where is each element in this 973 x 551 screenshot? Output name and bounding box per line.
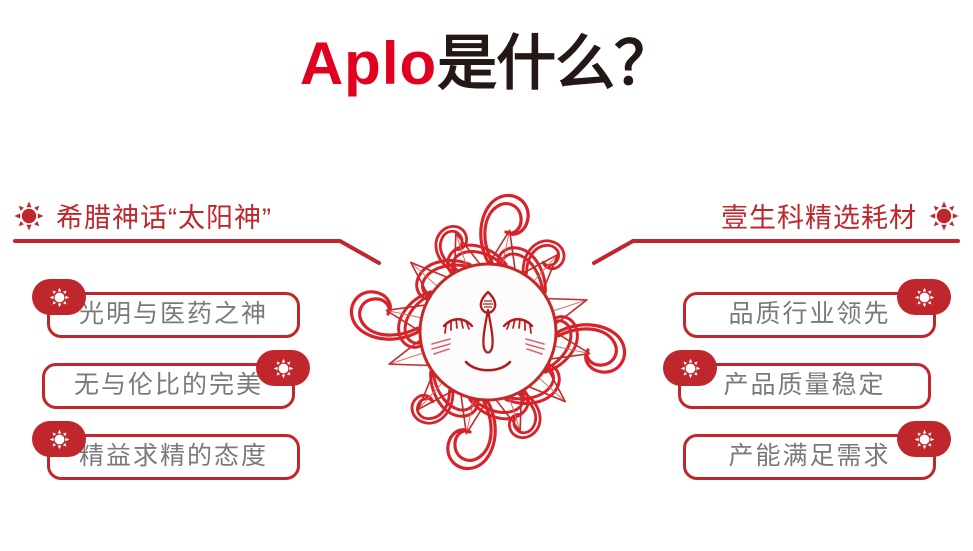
section-heading-right-label: 壹生科精选耗材: [721, 196, 917, 235]
sun-badge: [256, 350, 310, 386]
slide-canvas: Aplo是什么？ 希腊神话“太阳神”: [0, 0, 973, 551]
sun-badge: [663, 350, 717, 386]
list-item[interactable]: 品质行业领先: [683, 292, 936, 338]
list-item[interactable]: 光明与医药之神: [47, 292, 300, 338]
sun-badge: [897, 421, 951, 457]
list-item-label: 精益求精的态度: [79, 444, 268, 471]
section-heading-left-label: 希腊神话“太阳神”: [56, 196, 272, 235]
list-item-label: 品质行业领先: [728, 302, 890, 329]
list-item-label: 光明与医药之神: [79, 302, 268, 329]
brand-name: Aplo: [300, 30, 437, 97]
title-question: 是什么？: [437, 30, 673, 97]
list-item[interactable]: 产品质量稳定: [678, 363, 931, 409]
section-heading-right: 壹生科精选耗材: [721, 196, 959, 235]
sun-icon: [929, 201, 959, 231]
list-item-label: 产品质量稳定: [723, 373, 885, 400]
sun-badge: [32, 279, 86, 315]
list-item[interactable]: 精益求精的态度: [47, 434, 300, 480]
sun-badge: [32, 421, 86, 457]
sun-icon: [14, 201, 44, 231]
sun-badge: [897, 279, 951, 315]
list-item[interactable]: 无与伦比的完美: [42, 363, 295, 409]
list-item-label: 产能满足需求: [728, 444, 890, 471]
page-title: Aplo是什么？: [0, 34, 973, 94]
section-heading-left: 希腊神话“太阳神”: [14, 196, 272, 235]
list-item-label: 无与伦比的完美: [74, 373, 263, 400]
sun-face-illustration: [338, 132, 638, 514]
list-item[interactable]: 产能满足需求: [683, 434, 936, 480]
